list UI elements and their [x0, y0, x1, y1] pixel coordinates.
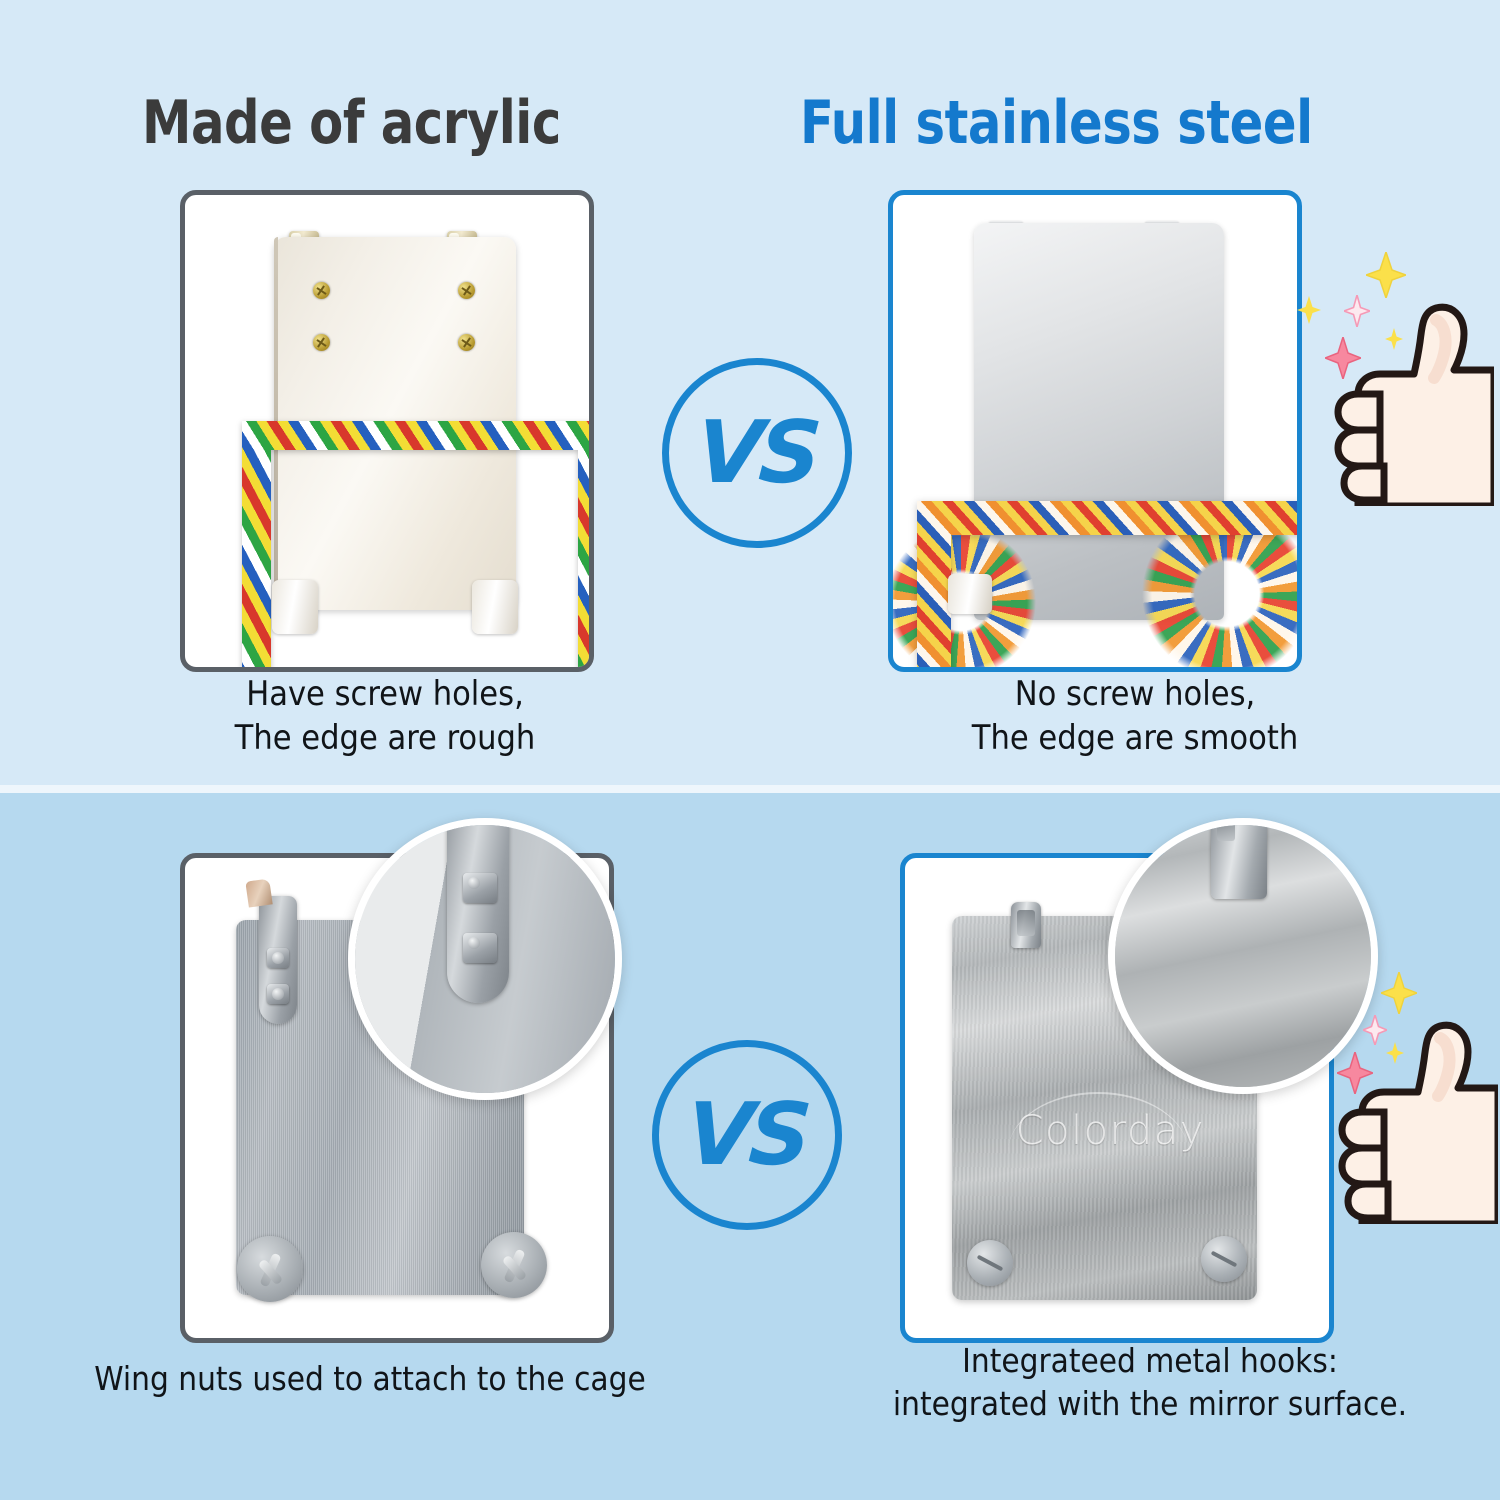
sparkle-pink-small-bottom	[1363, 1015, 1387, 1045]
braided-rope-perch	[242, 450, 549, 672]
sparkle-yellow-large-bottom	[1381, 972, 1417, 1014]
hook-tip	[245, 878, 272, 907]
caption-wing-nuts: Wing nuts used to attach to the cage	[60, 1358, 680, 1401]
sparkle-yellow-large-top	[1366, 252, 1406, 298]
screw-bottom-right	[458, 334, 475, 351]
mount-screw-right	[1201, 1236, 1247, 1282]
hook-nut-lower	[267, 984, 289, 1004]
hook-nut-zoom-upper	[463, 873, 497, 903]
screw-top-right	[458, 282, 475, 299]
vs-badge-top-label: VS	[663, 365, 851, 541]
acrylic-product-photo	[185, 195, 589, 667]
photo-frame-acrylic-product	[180, 190, 594, 672]
vs-badge-bottom: VS	[652, 1040, 842, 1230]
caption-integrated-hooks: Integrateed metal hooks: integrated with…	[860, 1340, 1440, 1426]
sparkle-yellow-small-top	[1297, 296, 1321, 324]
integrated-hook-zoom	[1211, 818, 1267, 899]
product-comparison-infographic: Made of acrylic Full stainless steel	[0, 0, 1500, 1500]
stainless-product-photo	[893, 195, 1297, 667]
sparkle-pink-large-top	[1325, 337, 1361, 379]
rope-arch-shape	[242, 421, 594, 672]
integrated-hook-left	[1011, 902, 1041, 948]
bolted-hook-left	[259, 896, 297, 1024]
sparkle-pink-small-top	[1344, 295, 1370, 327]
thumbs-up-icon-bottom	[1322, 1000, 1498, 1224]
heading-left-acrylic: Made of acrylic	[142, 88, 561, 158]
mount-screw-left	[967, 1240, 1013, 1286]
caption-stainless: No screw holes, The edge are smooth	[895, 672, 1375, 760]
sparkle-yellow-tiny-top	[1385, 328, 1403, 350]
frayed-rope-ring	[901, 488, 1289, 672]
rope-sleeve-left	[272, 580, 318, 634]
photo-frame-stainless-product	[888, 190, 1302, 672]
hook-nut-zoom-lower	[463, 933, 497, 963]
heading-right-stainless: Full stainless steel	[800, 88, 1313, 158]
brand-etch-colorday: Colorday	[1016, 1108, 1205, 1154]
section-divider	[0, 785, 1500, 793]
magnifier-circle-left	[348, 818, 622, 1100]
wing-nut-right	[481, 1232, 547, 1298]
rope-ring-sleeve	[948, 574, 992, 614]
screw-top-left	[313, 282, 330, 299]
vs-badge-bottom-label: VS	[653, 1047, 841, 1223]
sparkle-pink-large-bottom	[1337, 1052, 1373, 1094]
hook-nut-upper	[267, 948, 289, 968]
wing-nut-left	[237, 1236, 303, 1302]
sparkle-yellow-tiny-bottom	[1386, 1042, 1404, 1064]
screw-bottom-left	[313, 334, 330, 351]
rope-sleeve-right	[472, 580, 518, 634]
vs-badge-top: VS	[662, 358, 852, 548]
caption-acrylic: Have screw holes, The edge are rough	[145, 672, 625, 760]
bolted-hook-zoom	[447, 818, 509, 1003]
magnifier-content-left	[355, 825, 615, 1093]
